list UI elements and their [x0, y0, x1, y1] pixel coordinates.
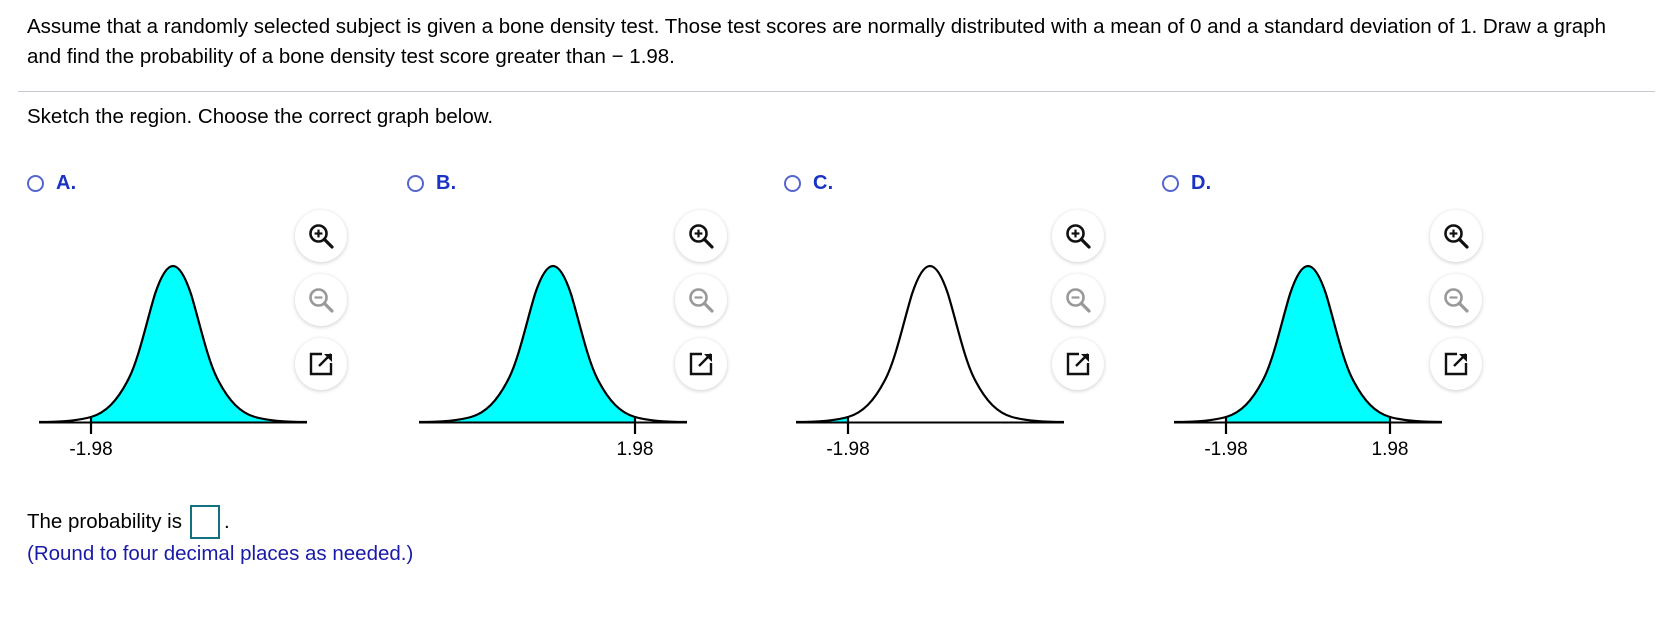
- option-d-tick-label-1: 1.98: [1372, 439, 1409, 460]
- expand-icon[interactable]: [295, 338, 347, 390]
- option-d-header[interactable]: D.: [1162, 170, 1211, 196]
- answer-period: .: [224, 510, 230, 534]
- option-c-label: C.: [813, 172, 833, 195]
- option-c-graph: -1.98: [796, 210, 1096, 460]
- answer-prompt: The probability is: [27, 510, 182, 534]
- option-a-graph: -1.98: [39, 210, 339, 460]
- answer-row: The probability is .: [27, 505, 230, 539]
- probability-input[interactable]: [190, 505, 220, 539]
- radio-option-d[interactable]: [1162, 175, 1179, 192]
- option-b[interactable]: B. 1.98: [407, 170, 797, 480]
- option-b-header[interactable]: B.: [407, 170, 456, 196]
- zoom-out-icon[interactable]: [675, 274, 727, 326]
- option-d-label: D.: [1191, 172, 1211, 195]
- radio-option-b[interactable]: [407, 175, 424, 192]
- option-c[interactable]: C. -1.98: [784, 170, 1174, 480]
- option-c-header[interactable]: C.: [784, 170, 833, 196]
- shaded-region-d: [1174, 266, 1442, 423]
- expand-icon[interactable]: [1052, 338, 1104, 390]
- normal-curve-c: -1.98: [796, 210, 1096, 460]
- normal-curve-b: 1.98: [419, 210, 719, 460]
- expand-icon[interactable]: [1430, 338, 1482, 390]
- option-d[interactable]: D. -1.98 1.98: [1162, 170, 1552, 480]
- option-b-tick-label-0: 1.98: [617, 439, 654, 460]
- zoom-out-icon[interactable]: [1430, 274, 1482, 326]
- option-b-graph: 1.98: [419, 210, 719, 460]
- rounding-note: (Round to four decimal places as needed.…: [27, 542, 413, 566]
- shaded-region-b: [419, 266, 687, 423]
- zoom-out-icon[interactable]: [1052, 274, 1104, 326]
- shaded-region-a: [39, 266, 307, 423]
- radio-option-c[interactable]: [784, 175, 801, 192]
- problem-page: Assume that a randomly selected subject …: [0, 0, 1664, 638]
- option-c-icon-toolbar[interactable]: [1052, 210, 1112, 402]
- option-a-label: A.: [56, 172, 76, 195]
- option-a[interactable]: A. -1.98: [27, 170, 417, 480]
- option-c-tick-label-0: -1.98: [826, 439, 869, 460]
- zoom-in-icon[interactable]: [1430, 210, 1482, 262]
- zoom-in-icon[interactable]: [675, 210, 727, 262]
- normal-curve-d: -1.98 1.98: [1174, 210, 1474, 460]
- problem-statement: Assume that a randomly selected subject …: [27, 12, 1637, 72]
- shaded-region-c: [796, 266, 1064, 423]
- option-b-label: B.: [436, 172, 456, 195]
- option-d-icon-toolbar[interactable]: [1430, 210, 1490, 402]
- option-b-icon-toolbar[interactable]: [675, 210, 735, 402]
- zoom-out-icon[interactable]: [295, 274, 347, 326]
- expand-icon[interactable]: [675, 338, 727, 390]
- option-a-tick-label-0: -1.98: [69, 439, 112, 460]
- instruction-text: Sketch the region. Choose the correct gr…: [27, 103, 493, 131]
- zoom-in-icon[interactable]: [1052, 210, 1104, 262]
- option-a-icon-toolbar[interactable]: [295, 210, 355, 402]
- zoom-in-icon[interactable]: [295, 210, 347, 262]
- section-divider: [18, 91, 1655, 92]
- normal-curve-a: -1.98: [39, 210, 339, 460]
- option-a-header[interactable]: A.: [27, 170, 76, 196]
- option-d-graph: -1.98 1.98: [1174, 210, 1474, 460]
- radio-option-a[interactable]: [27, 175, 44, 192]
- option-d-tick-label-0: -1.98: [1204, 439, 1247, 460]
